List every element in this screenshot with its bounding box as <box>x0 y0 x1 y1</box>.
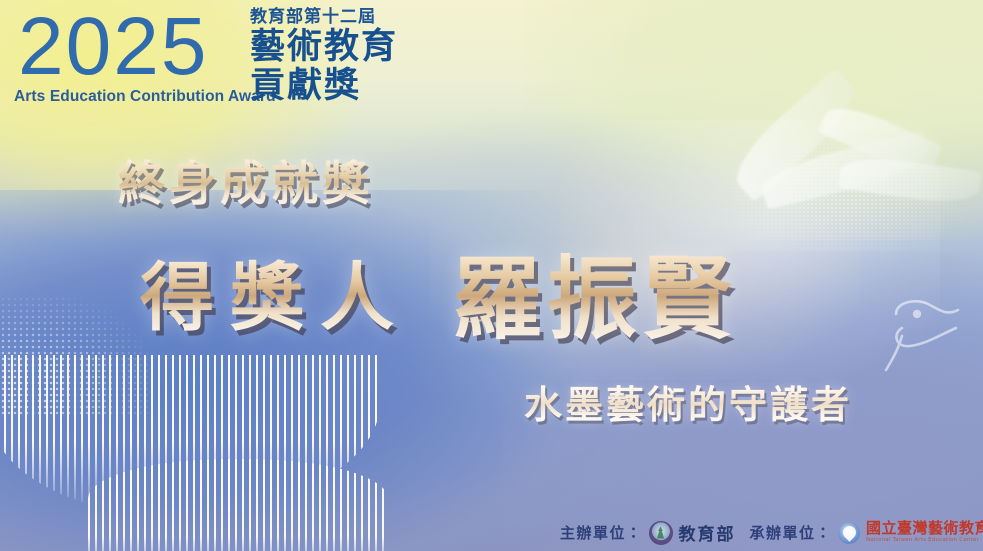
footer-credits: 主辦單位： 教育部 承辦單位： 國立臺灣藝術教育館 National Taiwa… <box>560 520 983 545</box>
dancing-figure-icon <box>872 288 983 372</box>
executor-name: 國立臺灣藝術教育館 <box>866 521 983 536</box>
poster-header: 2025 Arts Education Contribution Award 教… <box>0 0 440 120</box>
award-name-english: Arts Education Contribution Award <box>14 88 276 106</box>
award-category-label: 終身成就獎 <box>118 145 373 214</box>
year-label: 2025 <box>18 6 208 88</box>
recipient-name: 羅振賢 <box>452 226 737 356</box>
moe-emblem-inner-glyph <box>655 527 666 539</box>
edition-label: 教育部第十二屆 <box>250 8 398 28</box>
naec-logo-swirl-glyph <box>840 523 858 541</box>
executor-name-english: National Taiwan Arts Education Center <box>866 538 983 544</box>
recipient-label: 得獎人 <box>140 238 410 345</box>
executor-name-block: 國立臺灣藝術教育館 National Taiwan Arts Education… <box>866 521 983 544</box>
dragonfly-dot-texture <box>710 130 980 260</box>
recipient-row: 得獎人羅振賢 <box>140 226 737 356</box>
award-poster: 2025 Arts Education Contribution Award 教… <box>0 0 983 551</box>
award-title-line2: 貢獻獎 <box>250 67 398 106</box>
particle-texture <box>0 296 150 416</box>
organizer-name: 教育部 <box>679 520 736 545</box>
colonnade-lower-band <box>88 459 388 551</box>
award-title-chinese: 教育部第十二屆 藝術教育 貢獻獎 <box>250 8 398 106</box>
executor-credit: 承辦單位： 國立臺灣藝術教育館 National Taiwan Arts Edu… <box>750 521 983 544</box>
award-title-line1: 藝術教育 <box>250 28 398 67</box>
ministry-of-education-emblem-icon <box>649 521 673 545</box>
organizer-label: 主辦單位： <box>560 522 643 543</box>
arts-education-center-logo-icon <box>838 522 860 544</box>
executor-label: 承辦單位： <box>750 522 833 543</box>
organizer-credit: 主辦單位： 教育部 <box>560 520 736 545</box>
recipient-tagline: 水墨藝術的守護者 <box>524 374 852 429</box>
